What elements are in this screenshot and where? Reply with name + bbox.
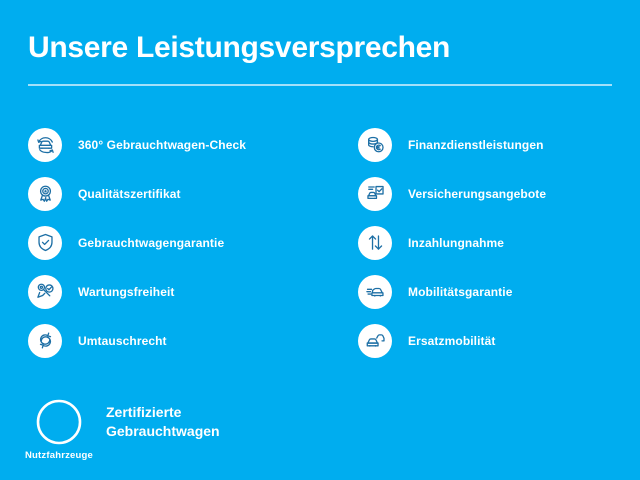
header-divider	[28, 84, 612, 86]
car-check-360-icon	[28, 128, 62, 162]
two-cars-icon	[358, 324, 392, 358]
award-rosette-icon	[28, 177, 62, 211]
brand-claim-line2: Gebrauchtwagen	[106, 422, 220, 441]
features-container: 360° Gebrauchtwagen-Check Qualitätszerti…	[0, 120, 640, 365]
brand-logo-subtitle: Nutzfahrzeuge	[25, 450, 93, 461]
feature-item[interactable]: Umtauschrecht	[28, 316, 348, 365]
feature-label: Mobilitätsgarantie	[408, 285, 512, 299]
feature-item[interactable]: Qualitätszertifikat	[28, 169, 348, 218]
exchange-arrows-icon	[28, 324, 62, 358]
feature-item[interactable]: Mobilitätsgarantie	[358, 267, 640, 316]
feature-item[interactable]: Gebrauchtwagengarantie	[28, 218, 348, 267]
feature-label: Finanzdienstleistungen	[408, 138, 544, 152]
brand-footer: Nutzfahrzeuge Zertifizierte Gebrauchtwag…	[28, 398, 220, 461]
slide-root: Unsere Leistungsversprechen	[0, 0, 640, 480]
features-column-left: 360° Gebrauchtwagen-Check Qualitätszerti…	[28, 120, 348, 365]
feature-label: Ersatzmobilität	[408, 334, 496, 348]
car-document-check-icon	[358, 177, 392, 211]
feature-label: Versicherungsangebote	[408, 187, 546, 201]
feature-item[interactable]: Inzahlungnahme	[358, 218, 640, 267]
feature-label: Wartungsfreiheit	[78, 285, 175, 299]
feature-label: Gebrauchtwagengarantie	[78, 236, 224, 250]
vw-logo	[35, 398, 83, 446]
feature-item[interactable]: Versicherungsangebote	[358, 169, 640, 218]
arrows-up-down-icon	[358, 226, 392, 260]
feature-item[interactable]: 360° Gebrauchtwagen-Check	[28, 120, 348, 169]
feature-item[interactable]: Wartungsfreiheit	[28, 267, 348, 316]
features-column-right: Finanzdienstleistungen Versicherungsange…	[358, 120, 640, 365]
feature-label: Inzahlungnahme	[408, 236, 504, 250]
brand-claim-line1: Zertifizierte	[106, 403, 220, 422]
brand-claim: Zertifizierte Gebrauchtwagen	[106, 403, 220, 441]
shield-check-icon	[28, 226, 62, 260]
feature-item[interactable]: Ersatzmobilität	[358, 316, 640, 365]
brand-mark: Nutzfahrzeuge	[28, 398, 90, 461]
feature-label: Qualitätszertifikat	[78, 187, 181, 201]
page-title: Unsere Leistungsversprechen	[28, 31, 450, 64]
wrench-check-icon	[28, 275, 62, 309]
feature-item[interactable]: Finanzdienstleistungen	[358, 120, 640, 169]
tow-truck-icon	[358, 275, 392, 309]
feature-label: 360° Gebrauchtwagen-Check	[78, 138, 246, 152]
coins-euro-icon	[358, 128, 392, 162]
feature-label: Umtauschrecht	[78, 334, 167, 348]
